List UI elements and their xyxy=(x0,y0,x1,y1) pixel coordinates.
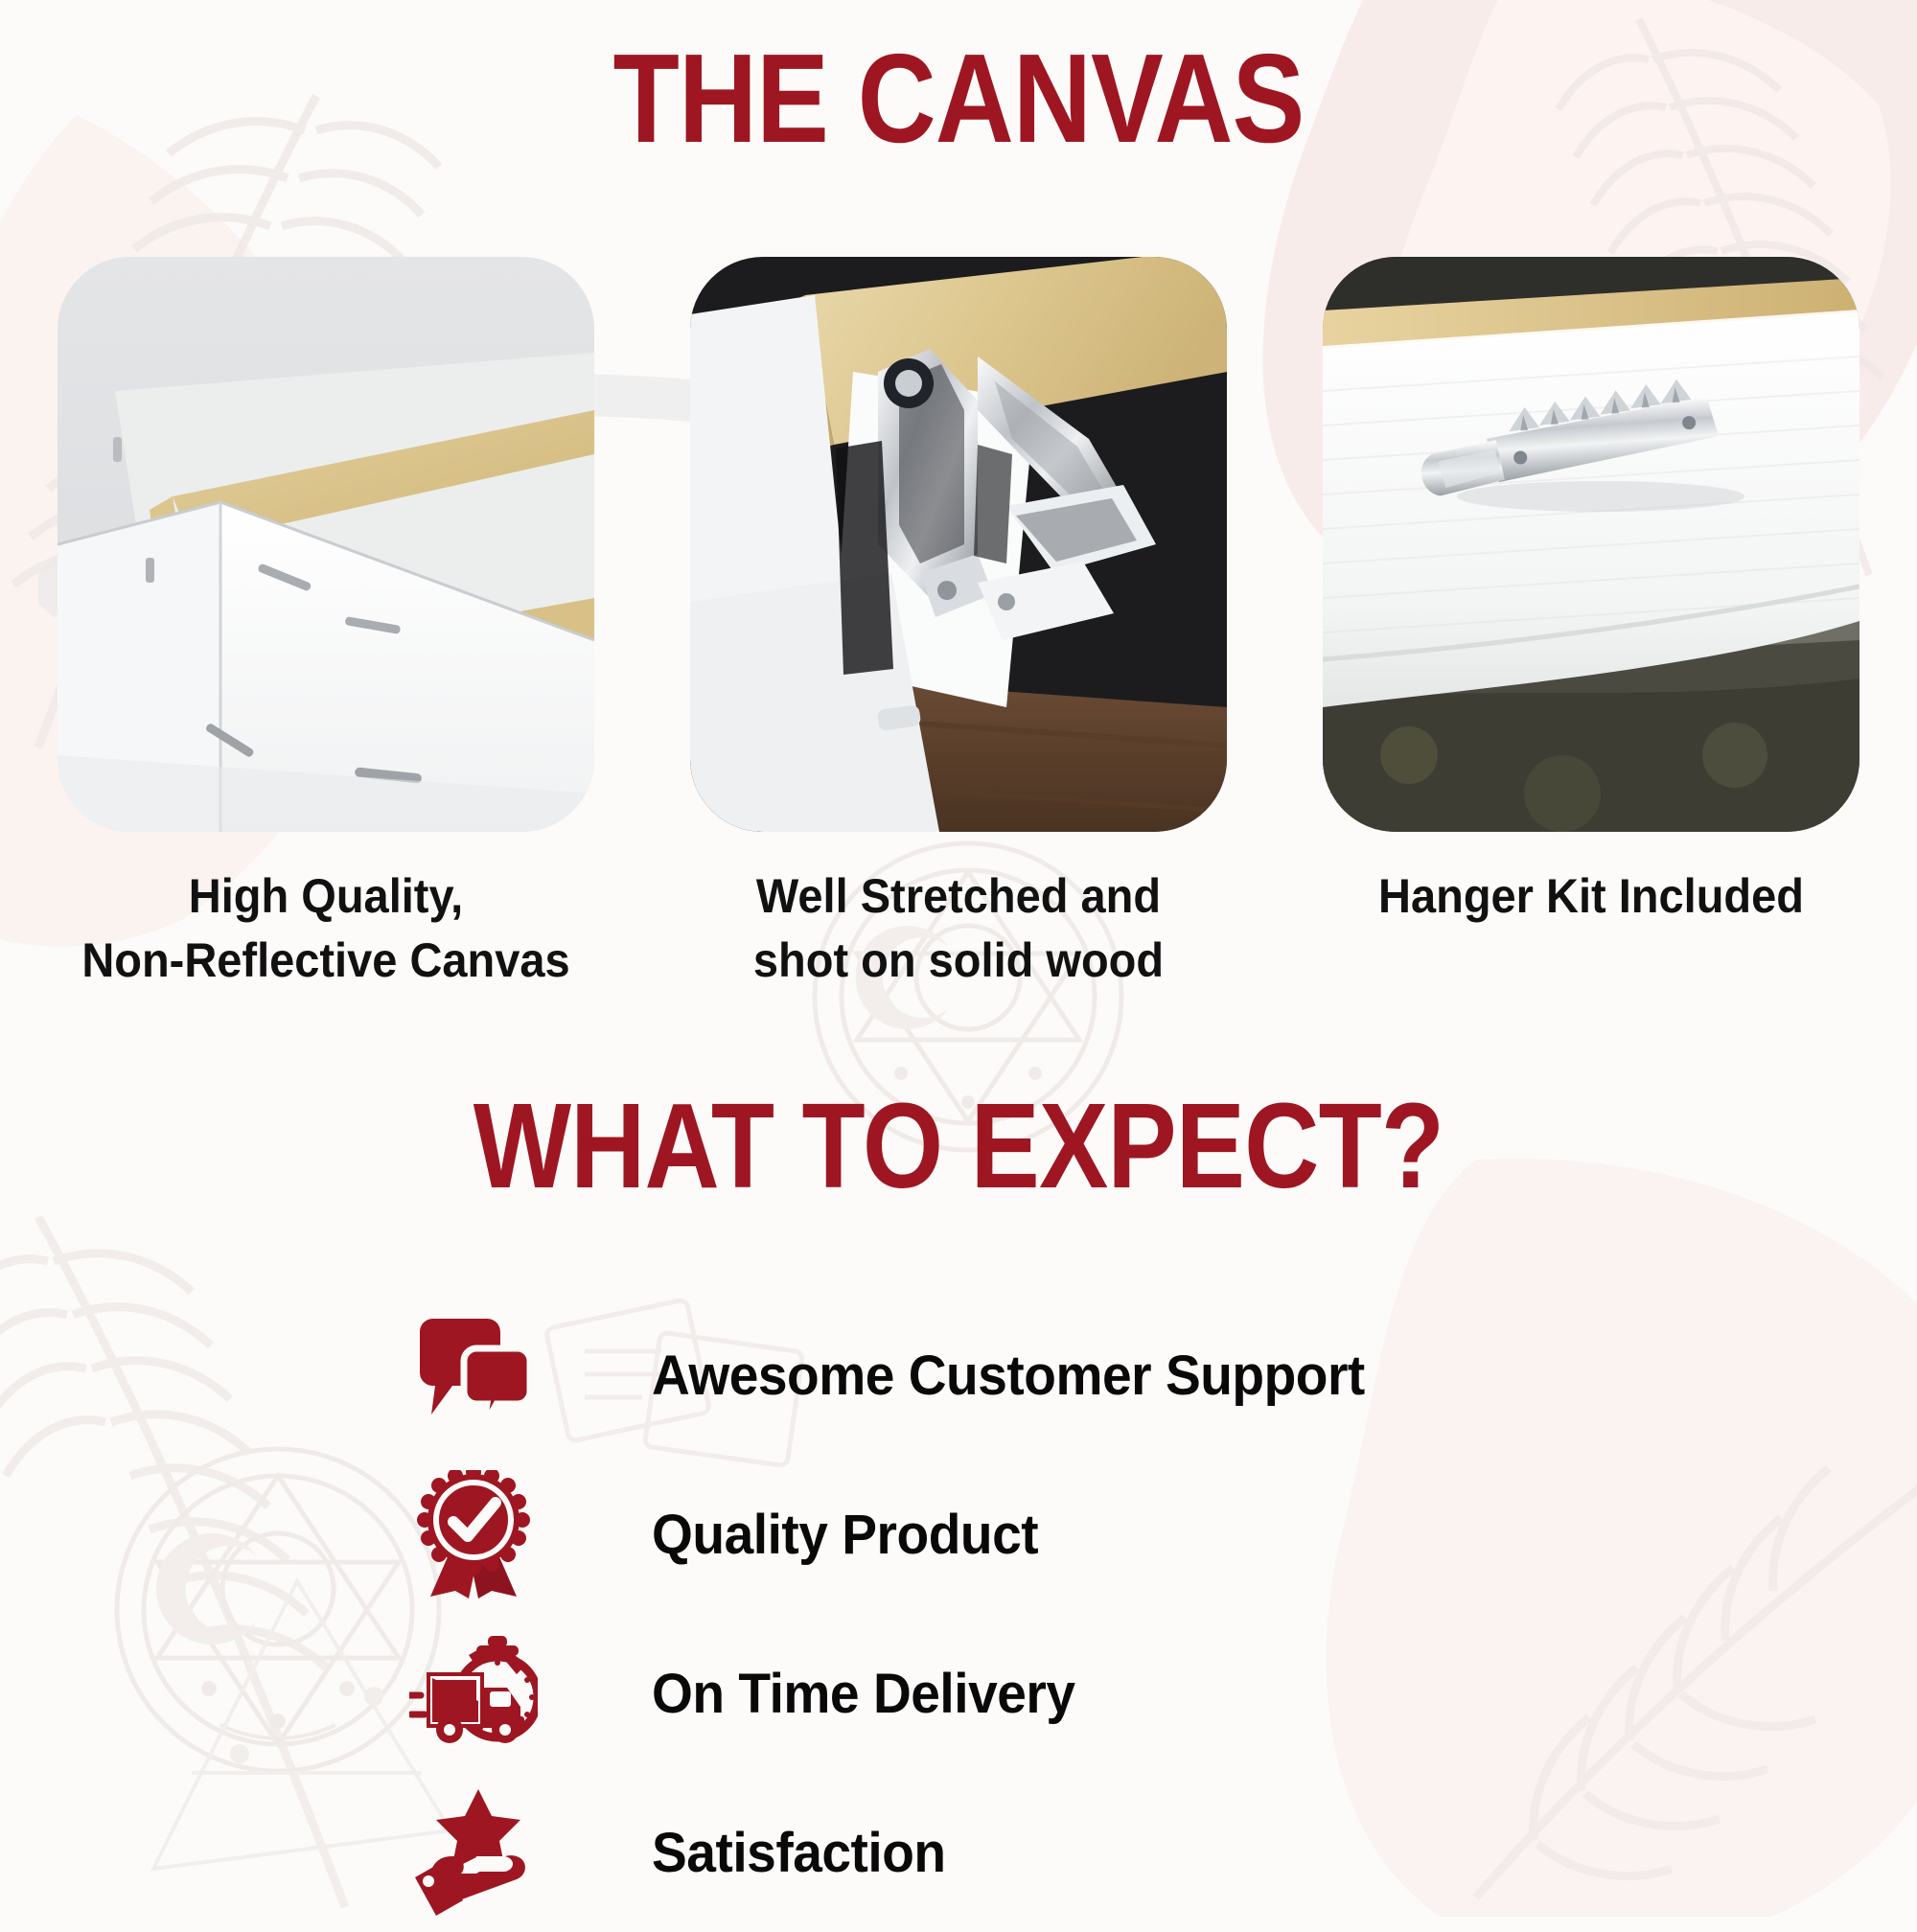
hand-star-icon-row: Satisfaction xyxy=(406,1773,1748,1932)
delivery-truck-icon-row: On Time Delivery xyxy=(406,1614,1748,1773)
hand-star-icon xyxy=(406,1785,541,1920)
canvas-corner-photo-icon xyxy=(58,257,594,832)
card-well-stretched: Well Stretched and shot on solid wood xyxy=(690,257,1227,993)
delivery-truck-icon xyxy=(406,1626,541,1760)
list-item: Quality Product xyxy=(406,1455,1748,1614)
list-item-label: Satisfaction xyxy=(652,1821,946,1885)
hanger-kit-photo-icon xyxy=(1323,257,1859,832)
canvas-feature-cards: High Quality, Non-Reflective Canvas xyxy=(58,257,1859,993)
card-caption: High Quality, Non-Reflective Canvas xyxy=(74,864,578,993)
what-to-expect-heading: WHAT TO EXPECT? xyxy=(134,1083,1783,1209)
card-caption-line2: shot on solid wood xyxy=(706,929,1211,993)
quality-badge-icon xyxy=(406,1467,541,1601)
card-caption: Well Stretched and shot on solid wood xyxy=(706,864,1211,993)
card-caption: Hanger Kit Included xyxy=(1339,864,1843,929)
card-caption-line1: Well Stretched and xyxy=(706,864,1211,929)
list-item-label: Quality Product xyxy=(652,1503,1038,1567)
card-caption-line2: Non-Reflective Canvas xyxy=(74,929,578,993)
chat-bubbles-icon xyxy=(406,1308,541,1442)
card-hanger-kit: Hanger Kit Included xyxy=(1323,257,1859,993)
list-item: Awesome Customer Support xyxy=(406,1296,1748,1455)
list-item-label: On Time Delivery xyxy=(652,1662,1075,1726)
stapler-wood-photo-icon xyxy=(690,257,1227,832)
card-high-quality-canvas: High Quality, Non-Reflective Canvas xyxy=(58,257,594,993)
card-caption-line1: Hanger Kit Included xyxy=(1339,864,1843,929)
expectations-list: Awesome Customer Support xyxy=(406,1296,1748,1932)
card-caption-line1: High Quality, xyxy=(74,864,578,929)
page-title: THE CANVAS xyxy=(134,33,1783,166)
list-item-label: Awesome Customer Support xyxy=(652,1344,1365,1408)
